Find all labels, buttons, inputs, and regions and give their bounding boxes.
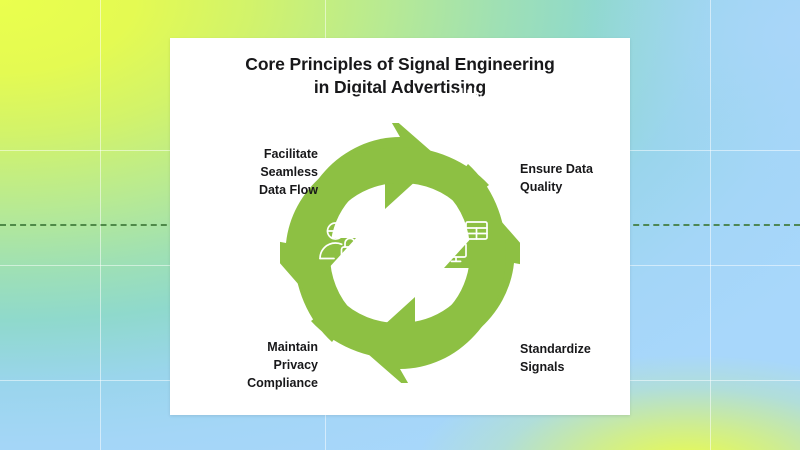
padlock-check-icon	[342, 238, 359, 261]
label-line-2: Privacy	[164, 357, 318, 375]
monitor-icon	[323, 112, 343, 130]
slide-canvas: Core Principles of Signal Engineering in…	[0, 0, 800, 450]
signal-waveform-check-icon	[442, 86, 498, 138]
monitor-table-sync-icon	[438, 216, 494, 268]
slide-card: Core Principles of Signal Engineering in…	[170, 38, 630, 415]
monitor-database-exchange-icon	[316, 86, 372, 138]
cycle-diagram: Facilitate Seamless Data Flow Ensure Dat…	[170, 38, 630, 415]
label-line-3: Compliance	[164, 375, 318, 393]
label-line-1: Maintain	[164, 339, 318, 357]
user-avatar-icon	[320, 223, 344, 259]
cycle-label-facilitate-seamless-data-flow: Facilitate Seamless Data Flow	[168, 146, 318, 199]
label-line-1: Standardize	[520, 341, 670, 359]
waveform-bars-icon	[449, 88, 481, 117]
cycle-label-standardize-signals: Standardize Signals	[520, 341, 670, 377]
cycle-label-ensure-data-quality: Ensure Data Quality	[520, 161, 670, 197]
user-lock-icon	[315, 218, 371, 270]
label-line-2: Seamless	[168, 164, 318, 182]
label-line-1: Ensure Data	[520, 161, 670, 179]
cycle-label-maintain-privacy-compliance: Maintain Privacy Compliance	[164, 339, 318, 392]
label-line-2: Signals	[520, 359, 670, 377]
monitor-icon	[446, 244, 466, 262]
label-line-1: Facilitate	[168, 146, 318, 164]
sync-arrows-icon	[451, 219, 462, 241]
table-grid-icon	[466, 222, 487, 239]
exchange-arrows-icon	[330, 96, 342, 107]
label-line-3: Data Flow	[168, 182, 318, 200]
cycle-segment-bottom-right	[360, 164, 506, 383]
label-line-2: Quality	[520, 179, 670, 197]
database-cylinder-icon	[346, 93, 364, 111]
